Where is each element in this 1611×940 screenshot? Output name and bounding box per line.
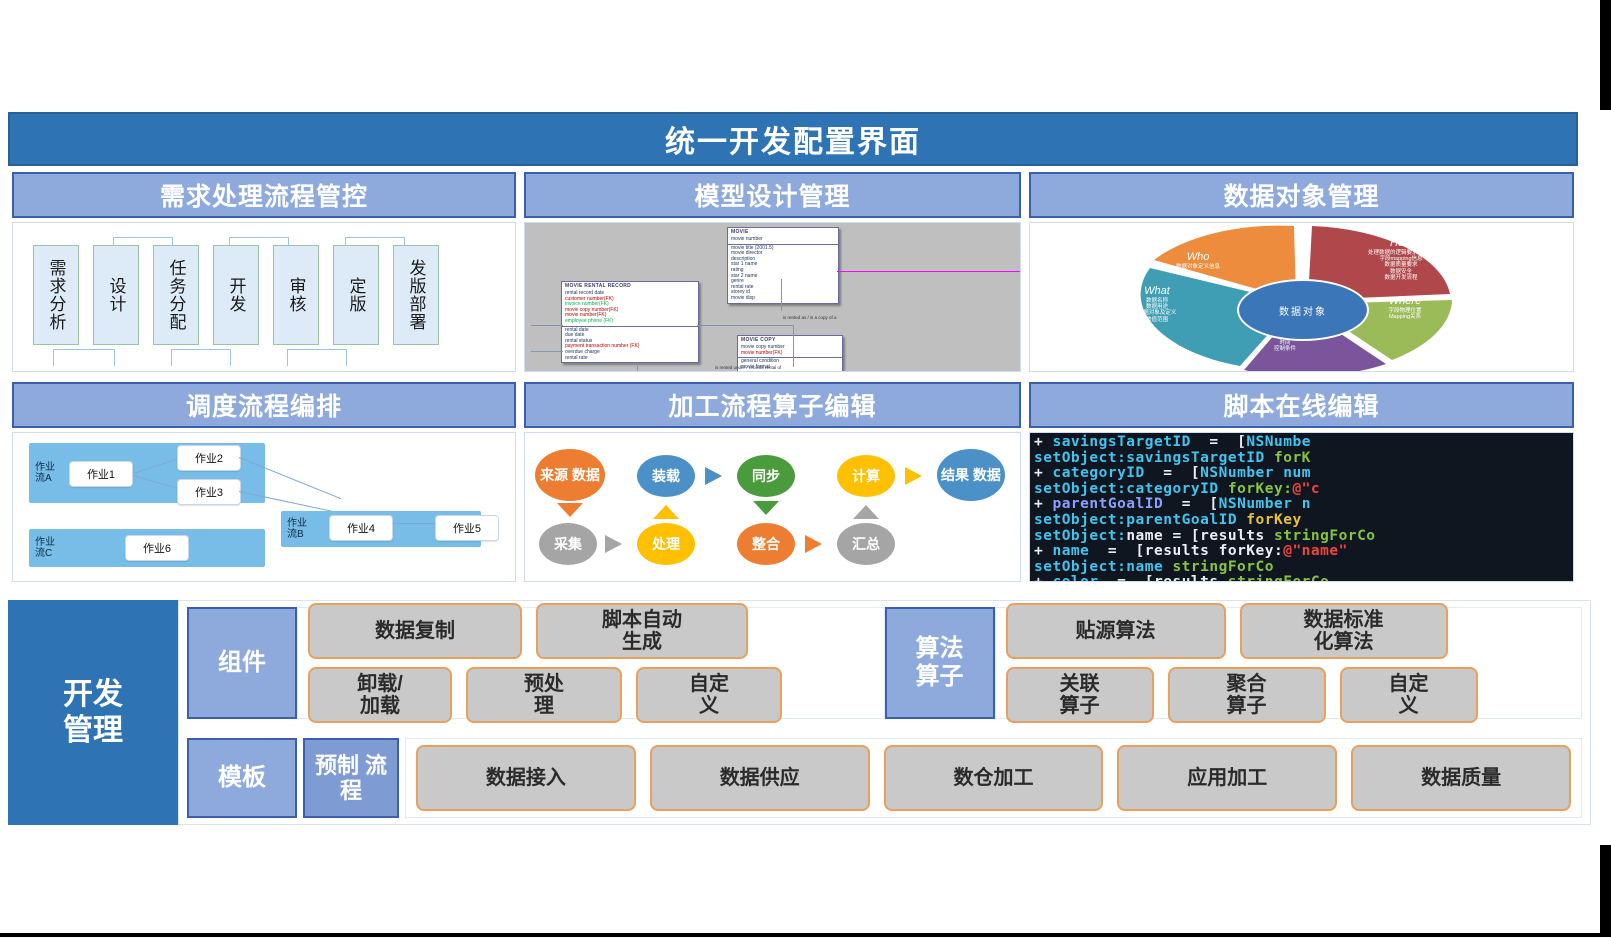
code-line: + name = [results forKey:@"name" [1034,544,1573,560]
dev-chip[interactable]: 数据复制 [308,603,522,659]
panel-row-2: 调度流程编排 作业 流A 作业1 作业2 作业3 作业 流B 作业4 作业5 [8,376,1578,586]
job-node[interactable]: 作业4 [329,515,393,541]
er-field: movie number(FK) [741,351,839,357]
er-table-title: MOVIE RENTAL RECORD [562,282,698,290]
dev-category-components[interactable]: 组件 [187,607,297,719]
dev-chip[interactable]: 数仓加工 [884,745,1104,811]
dev-chip[interactable]: 自定 义 [1340,667,1478,723]
er-table-title: MOVIE [728,228,838,236]
section-header-data-object: 数据对象管理 [1223,177,1379,213]
arrow-right-icon [905,467,922,485]
dev-chip[interactable]: 贴源算法 [1006,603,1226,659]
arrow-right-icon [705,467,722,485]
er-table[interactable]: MOVIE RENTAL RECORD rental record date c… [561,281,699,363]
er-table-fields: rental date due date rental status payme… [562,327,698,363]
er-relation-label: is rented as / is a copy of a [783,315,837,320]
requirement-step[interactable]: 需求分析 [33,245,79,345]
bottom-right-black-bar [1600,845,1611,933]
code-line: setObject:name = [results stringForCo [1034,529,1573,545]
panel-operator-flow: 加工流程算子编辑 来源 数据 采集 处理 装载 同步 整合 汇总 计算 结果 数… [520,376,1025,586]
sidebar-item-operator-flow[interactable]: 加工流程算子编辑 [524,382,1021,428]
page-title: 统一开发配置界面 [8,112,1578,166]
job-group-label: 作业 流B [287,518,307,540]
flow-connector [287,349,347,366]
operator-node-compute[interactable]: 计算 [837,455,895,497]
code-line: setObject:parentGoalID forKey [1034,513,1573,529]
dev-chip[interactable]: 数据供应 [650,745,870,811]
dev-chip[interactable]: 应用加工 [1117,745,1337,811]
dev-subcategory-preset-flow[interactable]: 预制 流程 [303,738,399,818]
flow-connector [53,349,115,366]
sidebar-item-schedule[interactable]: 调度流程编排 [12,382,516,428]
sidebar-item-model-design[interactable]: 模型设计管理 [524,172,1021,218]
dev-chip[interactable]: 预处 理 [466,667,622,723]
er-table[interactable]: MOVIE movie number movie title (2001.5) … [727,227,839,304]
arrow-down-icon [753,501,779,515]
arrow-right-icon [605,535,622,553]
panel-row-1: 需求处理流程管控 需求分析 设计 任务分配 开发 审核 定版 发版部署 [8,166,1578,376]
section-header-schedule: 调度流程编排 [186,387,342,423]
operator-node-result[interactable]: 结果 数据 [937,449,1005,501]
job-node[interactable]: 作业1 [69,461,133,487]
dev-management-label-text: 开发 管理 [63,677,123,749]
code-line: + color = [results stringForCo [1034,575,1573,581]
operator-node-integrate[interactable]: 整合 [737,523,795,565]
top-right-black-bar [1600,0,1611,110]
job-node[interactable]: 作业3 [177,479,241,505]
er-relation-line [531,351,563,352]
er-relation-line [781,279,782,311]
requirement-step-list: 需求分析 设计 任务分配 开发 审核 定版 发版部署 [33,245,439,345]
operator-flow-canvas: 来源 数据 采集 处理 装载 同步 整合 汇总 计算 结果 数据 [524,432,1021,582]
er-relation-label: is rented under / records rental of [715,365,781,370]
code-line: setObject:savingsTargetID forK [1034,451,1573,467]
code-line: + parentGoalID = [NSNumber n [1034,497,1573,513]
er-relation-line [697,325,793,326]
dev-group-algorithms: 算法 算子 贴源算法 数据标准 化算法 关联 算子 聚合 算子 自定 义 [885,607,1583,719]
panel-requirement: 需求处理流程管控 需求分析 设计 任务分配 开发 审核 定版 发版部署 [8,166,520,376]
dev-group-components: 组件 数据复制 脚本自动 生成 卸载/ 加载 预处 理 自定 义 [187,607,885,719]
dev-chip[interactable]: 自定 义 [636,667,782,723]
script-editor-canvas[interactable]: + savingsTargetID = [NSNumbesetObject:sa… [1029,432,1574,582]
requirement-step[interactable]: 审核 [273,245,319,345]
sidebar-item-requirement[interactable]: 需求处理流程管控 [12,172,516,218]
section-header-model-design: 模型设计管理 [694,177,850,213]
operator-node-collect[interactable]: 采集 [539,523,597,565]
dev-chipzone-components: 数据复制 脚本自动 生成 卸载/ 加载 预处 理 自定 义 [297,607,885,719]
er-field: employee phone (FK) [565,319,695,325]
code-line: setObject:categoryID forKey:@"c [1034,482,1573,498]
requirement-step[interactable]: 开发 [213,245,259,345]
er-table-keys: movie number [728,236,838,245]
page-title-text: 统一开发配置界面 [665,117,921,161]
er-relation-line-highlight [837,271,1021,272]
requirement-flow-canvas: 需求分析 设计 任务分配 开发 审核 定版 发版部署 [12,222,516,372]
bottom-black-line [0,933,1611,937]
arrow-up-icon [653,505,679,519]
panel-script-editor: 脚本在线编辑 + savingsTargetID = [NSNumbesetOb… [1025,376,1578,586]
er-diagram-canvas: MOVIE movie number movie title (2001.5) … [524,222,1021,372]
dev-chip[interactable]: 数据接入 [416,745,636,811]
operator-node-process[interactable]: 处理 [637,523,695,565]
data-object-canvas: Who 数据对象定义信息 What 数据名称 数据用途 数据对象及定义 数值范围… [1029,222,1574,372]
er-field: rental rate [565,356,695,362]
requirement-step[interactable]: 发版部署 [393,245,439,345]
job-link [393,523,441,524]
five-w-pie-chart: Who 数据对象定义信息 What 数据名称 数据用途 数据对象及定义 数值范围… [1030,223,1573,371]
er-field: movie number [731,237,835,243]
job-group-label: 作业 流C [35,537,55,559]
panel-schedule: 调度流程编排 作业 流A 作业1 作业2 作业3 作业 流B 作业4 作业5 [8,376,520,586]
dev-chipzone-template: 数据接入 数据供应 数仓加工 应用加工 数据质量 [405,738,1582,818]
schedule-flow-canvas: 作业 流A 作业1 作业2 作业3 作业 流B 作业4 作业5 作业 流C 作 [12,432,516,582]
panel-model-design: 模型设计管理 MOVIE movie number movie title (2… [520,166,1025,376]
dev-management-label: 开发 管理 [8,600,178,825]
job-group-label: 作业 流A [35,462,55,484]
job-node[interactable]: 作业5 [435,515,499,541]
code-line: + categoryID = [NSNumber num [1034,466,1573,482]
job-node[interactable]: 作业2 [177,445,241,471]
operator-node-load[interactable]: 装载 [637,455,695,497]
section-header-operator-flow: 加工流程算子编辑 [668,387,876,423]
operator-node-source[interactable]: 来源 数据 [535,449,605,501]
arrow-up-icon [853,505,879,519]
dev-chip[interactable]: 数据质量 [1351,745,1571,811]
dev-chip[interactable]: 数据标准 化算法 [1240,603,1448,659]
flow-connector [171,349,231,366]
requirement-step[interactable]: 任务分配 [153,245,199,345]
code-line: + savingsTargetID = [NSNumbe [1034,435,1573,451]
dev-management-section: 开发 管理 组件 数据复制 脚本自动 生成 卸载/ 加载 预处 理 自定 义 算… [8,600,1591,825]
dev-chip[interactable]: 卸载/ 加载 [308,667,452,723]
section-header-requirement: 需求处理流程管控 [160,177,368,213]
dev-chipzone-algorithms: 贴源算法 数据标准 化算法 关联 算子 聚合 算子 自定 义 [995,607,1583,719]
dev-chip[interactable]: 关联 算子 [1006,667,1154,723]
er-relation-line [793,325,794,367]
operator-node-sync[interactable]: 同步 [737,455,795,497]
panel-data-object: 数据对象管理 Who 数据对象定义信息 [1025,166,1578,376]
er-diagram: MOVIE movie number movie title (2001.5) … [525,223,1020,371]
er-relation-line [531,325,563,326]
sidebar-item-script-editor[interactable]: 脚本在线编辑 [1029,382,1574,428]
job-node[interactable]: 作业6 [125,535,189,561]
dev-row-top: 组件 数据复制 脚本自动 生成 卸载/ 加载 预处 理 自定 义 算法 算子 贴… [187,607,1582,719]
dev-row-bottom: 模板 预制 流程 数据接入 数据供应 数仓加工 应用加工 数据质量 [187,738,1582,818]
er-table-fields: movie title (2001.5) movie director desc… [728,245,838,303]
dev-management-body: 组件 数据复制 脚本自动 生成 卸载/ 加载 预处 理 自定 义 算法 算子 贴… [178,600,1591,825]
code-area[interactable]: + savingsTargetID = [NSNumbesetObject:sa… [1030,433,1573,581]
code-line: setObject:name stringForCo [1034,560,1573,576]
sidebar-item-data-object[interactable]: 数据对象管理 [1029,172,1574,218]
dev-chip[interactable]: 聚合 算子 [1168,667,1326,723]
er-relation-line [637,363,638,372]
arrow-right-icon [805,535,822,553]
section-header-script-editor: 脚本在线编辑 [1223,387,1379,423]
arrow-down-icon [557,503,583,517]
pie-center-label: 数据对象 [1237,279,1369,341]
dev-category-template[interactable]: 模板 [187,738,297,818]
er-table-keys: rental record date customer number(FK) i… [562,290,698,327]
dev-category-algorithms[interactable]: 算法 算子 [885,607,995,719]
requirement-step[interactable]: 设计 [93,245,139,345]
er-field: movie disp [731,296,835,302]
er-table-title: MOVIE COPY [738,336,842,344]
er-table-keys: movie copy number movie number(FK) [738,344,842,358]
operator-node-summary[interactable]: 汇总 [837,523,895,565]
dev-chip[interactable]: 脚本自动 生成 [536,603,748,659]
requirement-step[interactable]: 定版 [333,245,379,345]
